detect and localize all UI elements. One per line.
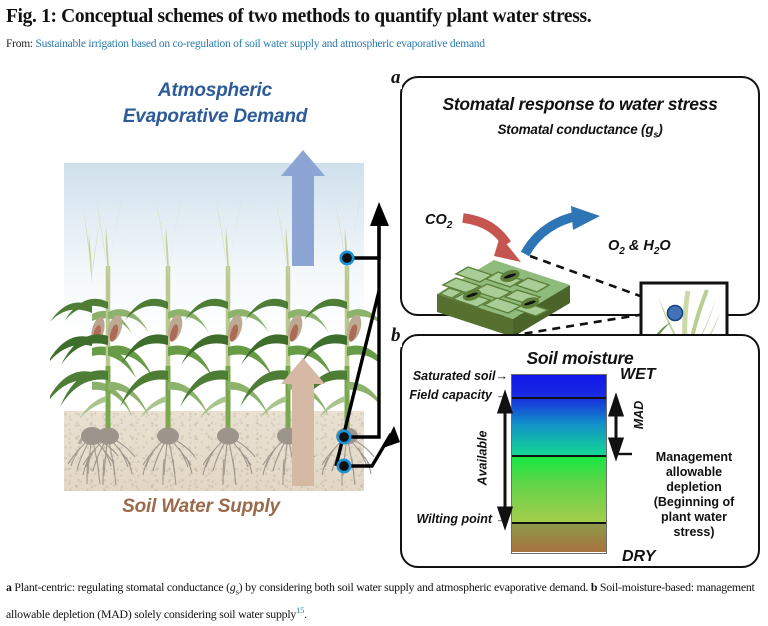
soil-moisture-bar (511, 374, 607, 554)
field-capacity-text: Field capacity (409, 388, 492, 402)
panel-a-letter: a (390, 67, 402, 89)
mad-description: Management allowable depletion (Beginnin… (634, 450, 754, 540)
aed-line-1: Atmospheric (158, 80, 272, 101)
label-saturated-soil: Saturated soil→ (398, 369, 508, 383)
segment-mad (512, 399, 606, 455)
aed-line-2: Evaporative Demand (123, 106, 307, 127)
mad-desc-line-2: allowable (666, 465, 722, 479)
caption-text-a: Plant-centric: regulating stomatal condu… (12, 580, 591, 594)
figure-source: From: Sustainable irrigation based on co… (6, 38, 485, 50)
mad-desc-line-6: stress) (674, 525, 715, 539)
co2-label: CO2 (425, 212, 452, 231)
wilting-point-text: Wilting point (416, 512, 492, 526)
o2-h2o-label: O2 & H2O (608, 238, 671, 257)
page-title: Fig. 1: Conceptual schemes of two method… (6, 6, 762, 28)
soil-background (64, 411, 364, 491)
mad-desc-line-3: depletion (666, 480, 722, 494)
sky-background (64, 163, 364, 338)
label-wet: WET (620, 366, 656, 384)
label-mad: MAD (632, 401, 646, 429)
panel-a-subtitle: Stomatal conductance (gs) (400, 122, 760, 140)
figure-caption: a Plant-centric: regulating stomatal con… (6, 578, 762, 624)
caption-reference[interactable]: 15 (296, 605, 304, 615)
soil-water-supply-label: Soil Water Supply (56, 496, 346, 518)
label-available: Available (475, 431, 489, 486)
label-wilting-point: Wilting point → (392, 512, 508, 526)
figure-canvas: Atmospheric Evaporative Demand Soil Wate… (0, 66, 768, 574)
saturated-soil-text: Saturated soil (413, 369, 496, 383)
panel-b-title: Soil moisture (400, 348, 760, 369)
label-dry: DRY (622, 548, 656, 566)
segment-available-lower (512, 457, 606, 522)
source-prefix-label: From: (6, 38, 33, 50)
label-field-capacity: Field capacity → (398, 388, 508, 402)
atmospheric-evaporative-demand-label: Atmospheric Evaporative Demand (60, 78, 370, 130)
field-scene: Atmospheric Evaporative Demand Soil Wate… (50, 66, 380, 536)
segment-saturated (512, 375, 606, 397)
panel-b-letter: b (390, 325, 402, 347)
mad-desc-line-4: (Beginning of (654, 495, 735, 509)
segment-below-wilting (512, 524, 606, 552)
source-article-link[interactable]: Sustainable irrigation based on co-regul… (36, 38, 485, 50)
figure-header: Fig. 1: Conceptual schemes of two method… (0, 0, 768, 66)
caption-marker-a: a (6, 580, 12, 594)
mad-desc-line-1: Management (656, 450, 732, 464)
mad-desc-line-5: plant water (661, 510, 727, 524)
caption-trailing: . (304, 607, 307, 621)
panel-a-title: Stomatal response to water stress (400, 94, 760, 115)
